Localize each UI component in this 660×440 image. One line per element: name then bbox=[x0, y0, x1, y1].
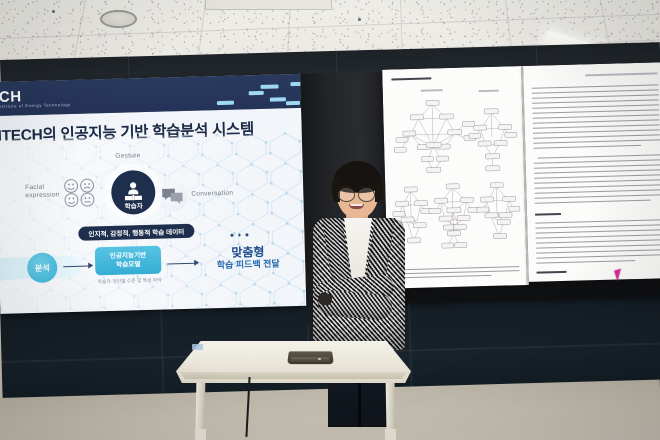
body-text-line bbox=[536, 260, 635, 264]
presenter bbox=[300, 160, 420, 425]
body-text-line bbox=[536, 239, 660, 244]
body-text-line bbox=[533, 119, 660, 124]
emoji-faces-icon bbox=[63, 177, 98, 208]
right-display-document-viewer[interactable] bbox=[382, 62, 660, 303]
body-text-line bbox=[533, 145, 641, 149]
body-text-line bbox=[533, 139, 660, 144]
ceiling-vent bbox=[205, 0, 332, 10]
body-text-line bbox=[535, 219, 660, 224]
presentation-room-photo: TECH Korea Institute of Energy Technolog… bbox=[0, 0, 660, 440]
header-dash-icon bbox=[286, 101, 300, 105]
body-text-line bbox=[534, 174, 660, 179]
glasses-lens-left bbox=[338, 188, 355, 202]
body-text-line bbox=[534, 189, 660, 194]
modality-label-gesture: Gesture bbox=[115, 152, 140, 160]
body-text-line bbox=[536, 229, 660, 234]
slide-header-band: TECH Korea Institute of Energy Technolog… bbox=[0, 74, 301, 116]
figure-panel-label bbox=[421, 89, 443, 91]
ceiling-speaker-icon bbox=[100, 10, 137, 28]
section-heading bbox=[535, 213, 561, 216]
model-box-line2: 학습모델 bbox=[116, 260, 140, 270]
table-foot-left bbox=[195, 429, 206, 440]
body-text-line bbox=[535, 200, 651, 204]
microphone-capsule-icon bbox=[304, 318, 310, 325]
glasses-lens-right bbox=[358, 188, 375, 202]
body-text-line bbox=[532, 104, 659, 109]
figure-page-header bbox=[391, 77, 431, 80]
body-text-line bbox=[532, 99, 659, 104]
table-foot-right bbox=[385, 429, 396, 440]
table-label-sticker bbox=[192, 344, 203, 350]
body-text-line bbox=[536, 244, 660, 249]
body-text-line bbox=[536, 234, 660, 239]
body-text-line bbox=[534, 179, 660, 184]
speech-bubbles-glyph bbox=[161, 187, 183, 206]
body-text-line bbox=[534, 169, 660, 174]
body-text-line bbox=[533, 124, 660, 129]
paper-page-right bbox=[523, 62, 660, 282]
hair-side-right bbox=[375, 176, 383, 202]
flow-arrow-head bbox=[88, 262, 93, 268]
microphone-base-front bbox=[291, 357, 329, 362]
learner-node-label: 학습자 bbox=[112, 200, 156, 211]
ai-learning-model-box: 인공지능기반 학습모델 bbox=[95, 246, 162, 276]
body-text-line bbox=[536, 254, 660, 259]
body-text-line bbox=[533, 129, 660, 134]
body-text-line bbox=[532, 109, 659, 114]
microphone-led-indicator bbox=[318, 358, 321, 360]
body-text-line bbox=[535, 194, 660, 199]
header-dash-icon bbox=[249, 91, 264, 95]
glasses-bridge-icon bbox=[352, 192, 358, 193]
body-text-line bbox=[534, 184, 660, 189]
body-text-line bbox=[532, 94, 659, 99]
body-text-line bbox=[532, 114, 659, 119]
body-text-line bbox=[534, 159, 660, 164]
result-subtitle: 학습 피드백 전달 bbox=[199, 256, 297, 272]
body-text-line bbox=[538, 154, 660, 159]
header-dash-icon bbox=[260, 84, 278, 88]
body-text-line bbox=[532, 84, 659, 89]
left-display-presentation-slide[interactable]: TECH Korea Institute of Energy Technolog… bbox=[0, 74, 306, 314]
header-dash-icon bbox=[270, 97, 286, 101]
ceiling-sensor-dot bbox=[52, 10, 55, 13]
header-dash-icon bbox=[217, 101, 234, 105]
kentech-logo-tagline: Korea Institute of Energy Technology bbox=[0, 102, 71, 109]
ceiling-sensor-dot bbox=[358, 18, 361, 21]
body-text-line bbox=[535, 224, 660, 229]
running-head bbox=[585, 72, 657, 75]
body-text-line bbox=[532, 89, 659, 94]
table-edge bbox=[176, 372, 411, 379]
modality-label-conversation: Conversation bbox=[191, 190, 233, 198]
section-heading bbox=[537, 271, 567, 274]
decorative-dots bbox=[230, 233, 248, 236]
model-box-line1: 인공지능기반 bbox=[110, 251, 147, 261]
body-text-line bbox=[536, 249, 660, 254]
body-text-line bbox=[534, 164, 660, 169]
hexagon-pattern-background bbox=[0, 132, 306, 314]
body-text-line bbox=[533, 134, 660, 139]
figure-panel-label bbox=[479, 90, 499, 92]
modality-label-facial-expression: Facialexpression bbox=[25, 183, 60, 200]
